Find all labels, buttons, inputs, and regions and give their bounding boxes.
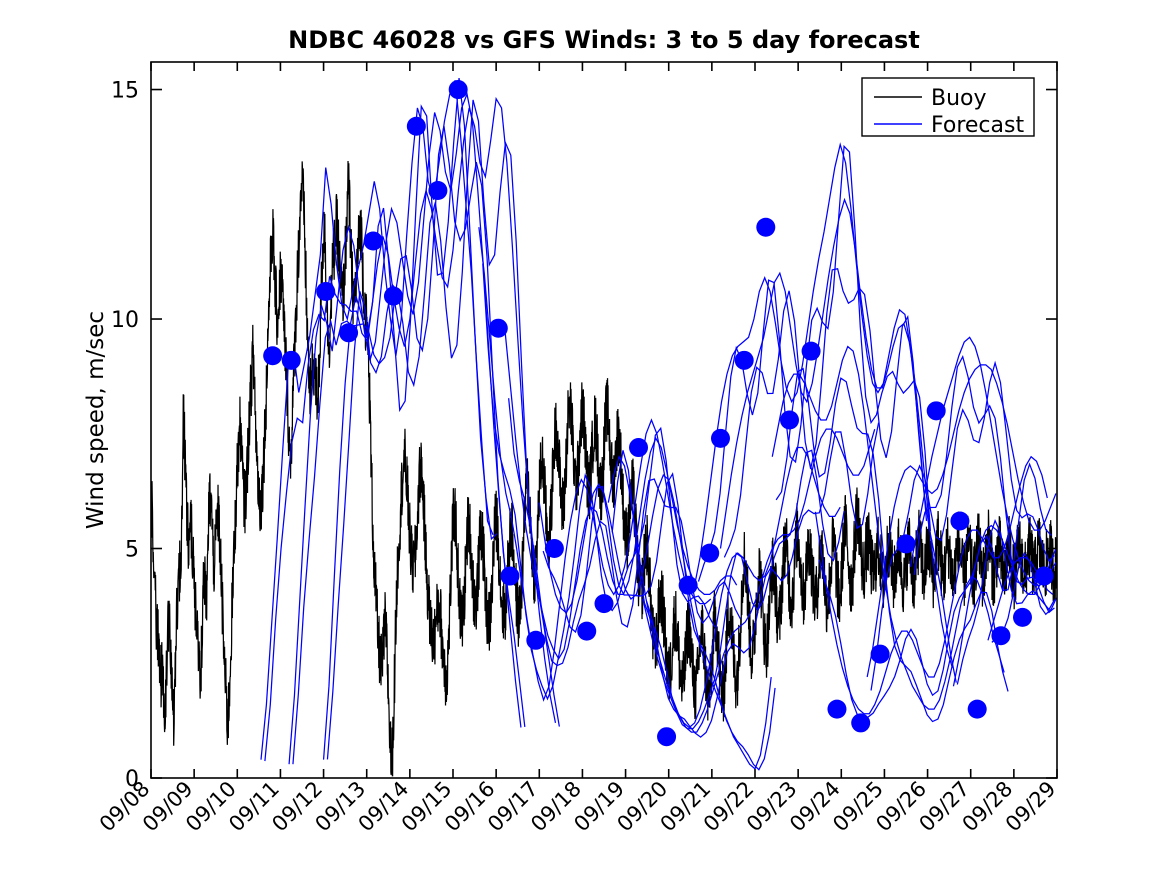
forecast-marker [364,232,383,251]
forecast-marker [316,282,335,301]
forecast-marker [526,631,545,650]
forecast-marker [968,700,987,719]
legend-label-buoy: Buoy [931,86,987,111]
chart-figure: NDBC 46028 vs GFS Winds: 3 to 5 day fore… [0,0,1167,875]
y-axis-label: Wind speed, m/sec [83,311,109,529]
forecast-marker [991,626,1010,645]
forecast-marker [339,323,358,342]
forecast-marker [851,713,870,732]
forecast-marker [489,319,508,338]
forecast-marker [282,351,301,370]
forecast-marker [927,401,946,420]
forecast-marker [545,539,564,558]
chart-legend[interactable]: Buoy Forecast [862,78,1034,138]
forecast-marker [950,511,969,530]
forecast-marker [700,544,719,563]
y-tick-label: 0 [125,767,139,792]
forecast-marker [780,411,799,430]
forecast-marker [802,342,821,361]
forecast-marker [595,594,614,613]
chart-title: NDBC 46028 vs GFS Winds: 3 to 5 day fore… [288,26,920,54]
forecast-marker [897,534,916,553]
forecast-marker [679,576,698,595]
y-tick-label: 15 [111,79,139,104]
forecast-marker [657,727,676,746]
forecast-marker [629,438,648,457]
y-tick-label: 5 [125,538,139,563]
legend-label-forecast: Forecast [931,113,1024,138]
forecast-marker [711,429,730,448]
forecast-marker [263,346,282,365]
forecast-marker [827,700,846,719]
forecast-marker [577,622,596,641]
forecast-marker [735,351,754,370]
forecast-marker [384,287,403,306]
forecast-marker [1013,608,1032,627]
y-tick-label: 10 [111,308,139,333]
forecast-marker [449,80,468,99]
forecast-marker [428,181,447,200]
wind-speed-chart: NDBC 46028 vs GFS Winds: 3 to 5 day fore… [0,0,1167,875]
forecast-marker [756,218,775,237]
forecast-marker [871,645,890,664]
forecast-marker [500,567,519,586]
forecast-marker [407,117,426,136]
forecast-marker [1035,567,1054,586]
